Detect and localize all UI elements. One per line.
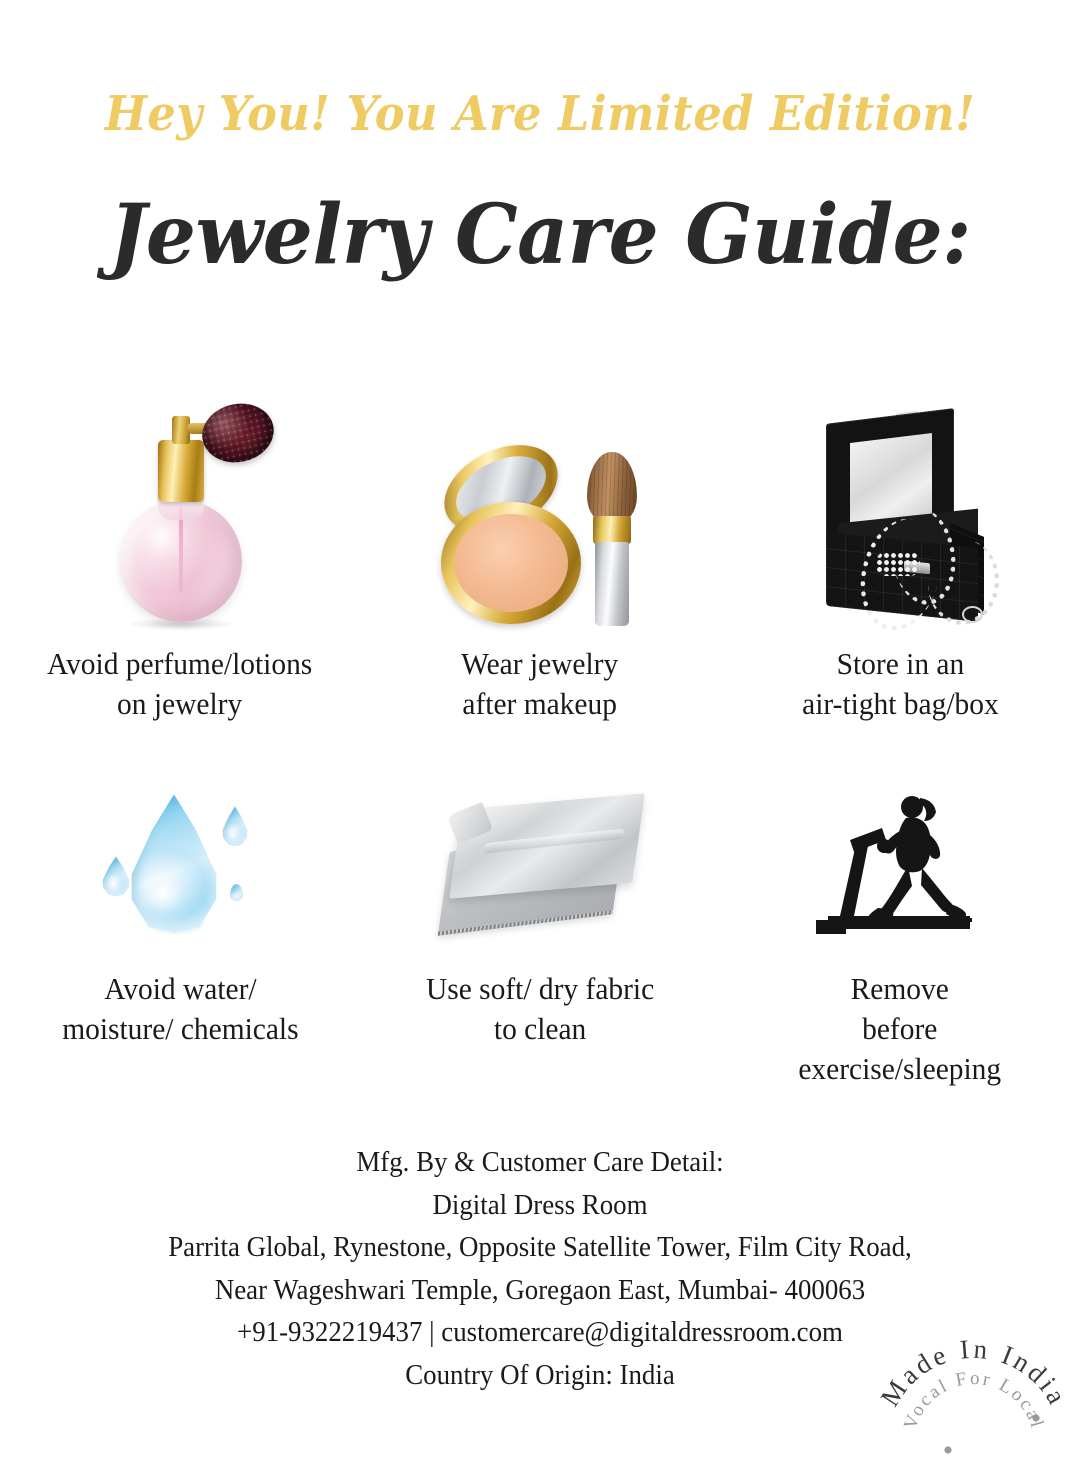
perfume-gold-collar [158,440,204,502]
makeup-compact-brush-icon [435,440,645,630]
cleaning-cloth-icon [425,790,655,940]
tagline: Hey You! You Are Limited Edition! [38,86,1042,142]
tip-store-airtight: Store in an air-tight bag/box [720,380,1080,723]
tip-caption-line: moisture/ chemicals [62,1009,298,1049]
care-tips-row-2: Avoid water/ moisture/ chemicals Use sof… [0,775,1080,1088]
tip-caption-line: Store in an [802,644,999,684]
tip-caption-line: Avoid water/ [62,969,298,1009]
tip-caption-line: after makeup [461,684,618,724]
care-tips-grid: Avoid perfume/lotions on jewelry Wear je… [0,380,1080,1088]
footer-heading: Mfg. By & Customer Care Detail: [22,1142,1059,1185]
brush-bristles [587,452,637,524]
tip-caption-line: air-tight bag/box [802,684,999,724]
tip-caption: Remove before exercise/sleeping [799,955,1002,1088]
tip-caption-line: Wear jewelry [461,644,618,684]
jewelry-box-icon-container [800,380,1000,630]
tip-remove-before-exercise: Remove before exercise/sleeping [720,775,1080,1088]
makeup-icon-container [435,380,645,630]
jewelry-box-icon [800,410,1000,630]
perfume-icon-container [90,380,270,630]
footer-company-name: Digital Dress Room [22,1185,1059,1228]
tip-caption-line: Remove [799,969,1002,1009]
footer-address-line-1: Parrita Global, Rynestone, Opposite Sate… [22,1227,1059,1270]
brush-handle [595,542,629,626]
tip-avoid-water: Avoid water/ moisture/ chemicals [0,775,360,1088]
perfume-bottle-icon [90,400,270,630]
tip-caption-line: exercise/sleeping [799,1049,1002,1089]
water-drop-small [102,856,130,896]
tip-caption-line: Use soft/ dry fabric [426,969,654,1009]
water-drop-large [128,794,220,932]
water-drop-icon [80,780,280,950]
treadmill-icon-container [810,775,990,955]
compact-powder-pan [441,502,581,624]
badge-dot-left [944,1446,951,1453]
tip-caption-line: before [799,1009,1002,1049]
cloth-icon-container [425,775,655,955]
tip-caption: Wear jewelry after makeup [461,630,618,723]
tip-caption-line: to clean [426,1009,654,1049]
tip-caption: Avoid perfume/lotions on jewelry [47,630,312,723]
water-drop-tiny [230,884,243,901]
tip-wear-after-makeup: Wear jewelry after makeup [360,380,720,723]
made-in-india-badge: Made In India Vocal For Local [878,1268,1078,1458]
tip-caption: Avoid water/ moisture/ chemicals [62,955,298,1048]
tip-caption-line: Avoid perfume/lotions [47,644,312,684]
tip-avoid-perfume: Avoid perfume/lotions on jewelry [0,380,360,723]
perfume-atomizer-bulb [197,397,279,469]
tip-caption: Store in an air-tight bag/box [802,630,999,723]
care-tips-row-1: Avoid perfume/lotions on jewelry Wear je… [0,380,1080,723]
tip-use-soft-fabric: Use soft/ dry fabric to clean [360,775,720,1088]
water-drop-small [222,806,248,846]
silver-ring [962,606,983,623]
water-drop-icon-container [80,775,280,955]
tip-caption-line: on jewelry [47,684,312,724]
brush-gold-ferrule [593,516,631,544]
treadmill-runner-icon [810,788,990,943]
pearl-cluster [876,552,920,576]
badge-dot-right [1032,1414,1039,1421]
tip-caption: Use soft/ dry fabric to clean [426,955,654,1048]
page-title: Jewelry Care Guide: [22,192,1059,278]
